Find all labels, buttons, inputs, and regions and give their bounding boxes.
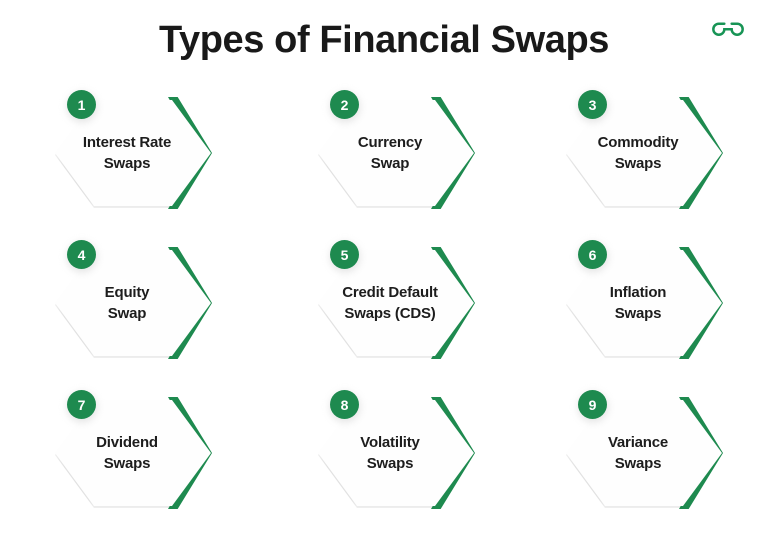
swap-card-grid: Interest Rate Swaps 1 Currency Swap 2 Co… — [0, 88, 768, 528]
infographic-page: Types of Financial Swaps Interest Rate S… — [0, 0, 768, 549]
swap-card[interactable]: Volatility Swaps 8 — [301, 388, 479, 520]
swap-card-number-badge: 1 — [67, 90, 96, 119]
swap-card-label: Credit Default Swaps (CDS) — [331, 282, 449, 324]
swap-card[interactable]: Dividend Swaps 7 — [38, 388, 216, 520]
swap-card[interactable]: Commodity Swaps 3 — [549, 88, 727, 220]
page-title: Types of Financial Swaps — [0, 17, 768, 63]
swap-card-label: Currency Swap — [331, 132, 449, 174]
swap-card-number-badge: 6 — [578, 240, 607, 269]
swap-card-number-badge: 2 — [330, 90, 359, 119]
swap-card-number-badge: 3 — [578, 90, 607, 119]
swap-card-label: Interest Rate Swaps — [68, 132, 186, 174]
swap-card-number-badge: 7 — [67, 390, 96, 419]
swap-card[interactable]: Inflation Swaps 6 — [549, 238, 727, 370]
swap-card-number-badge: 9 — [578, 390, 607, 419]
swap-card-number-badge: 4 — [67, 240, 96, 269]
swap-card-label: Equity Swap — [68, 282, 186, 324]
swap-card[interactable]: Variance Swaps 9 — [549, 388, 727, 520]
swap-card-number-badge: 8 — [330, 390, 359, 419]
swap-card-number-badge: 5 — [330, 240, 359, 269]
swap-card-label: Dividend Swaps — [68, 432, 186, 474]
swap-card[interactable]: Interest Rate Swaps 1 — [38, 88, 216, 220]
swap-card[interactable]: Equity Swap 4 — [38, 238, 216, 370]
swap-card-label: Variance Swaps — [579, 432, 697, 474]
swap-card-label: Inflation Swaps — [579, 282, 697, 324]
swap-card[interactable]: Currency Swap 2 — [301, 88, 479, 220]
swap-card-label: Commodity Swaps — [579, 132, 697, 174]
swap-card-label: Volatility Swaps — [331, 432, 449, 474]
swap-card[interactable]: Credit Default Swaps (CDS) 5 — [301, 238, 479, 370]
